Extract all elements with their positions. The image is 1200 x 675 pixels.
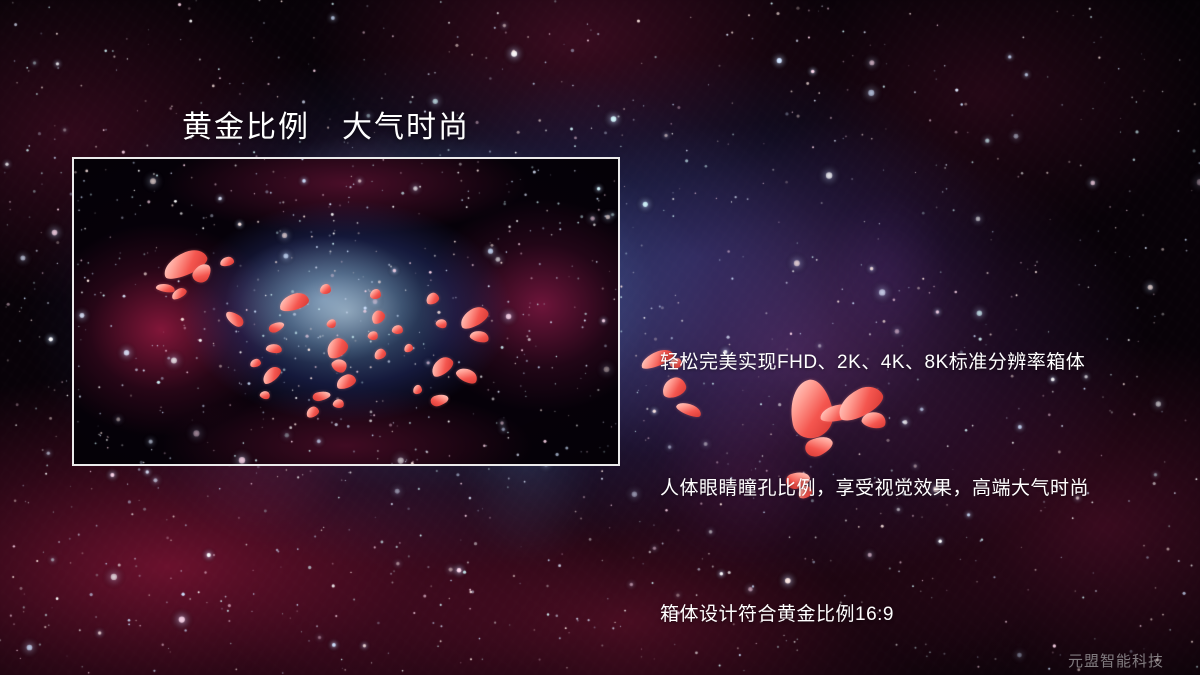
slide-canvas: 黄金比例 大气时尚 轻松完美实现FHD、2K、4K、8K标准分辨率箱体 人体眼睛… (0, 0, 1200, 675)
page-title: 黄金比例 大气时尚 (182, 102, 470, 146)
watermark: 元盟智能科技 (1068, 650, 1164, 671)
nebula-image-frame (72, 157, 620, 466)
copy-line-1: 轻松完美实现FHD、2K、4K、8K标准分辨率箱体 (660, 342, 1089, 384)
copy-line-3: 箱体设计符合黄金比例16:9 (660, 594, 1089, 636)
copy-line-2: 人体眼睛瞳孔比例，享受视觉效果，高端大气时尚 (660, 468, 1089, 510)
body-copy: 轻松完美实现FHD、2K、4K、8K标准分辨率箱体 人体眼睛瞳孔比例，享受视觉效… (660, 258, 1089, 675)
